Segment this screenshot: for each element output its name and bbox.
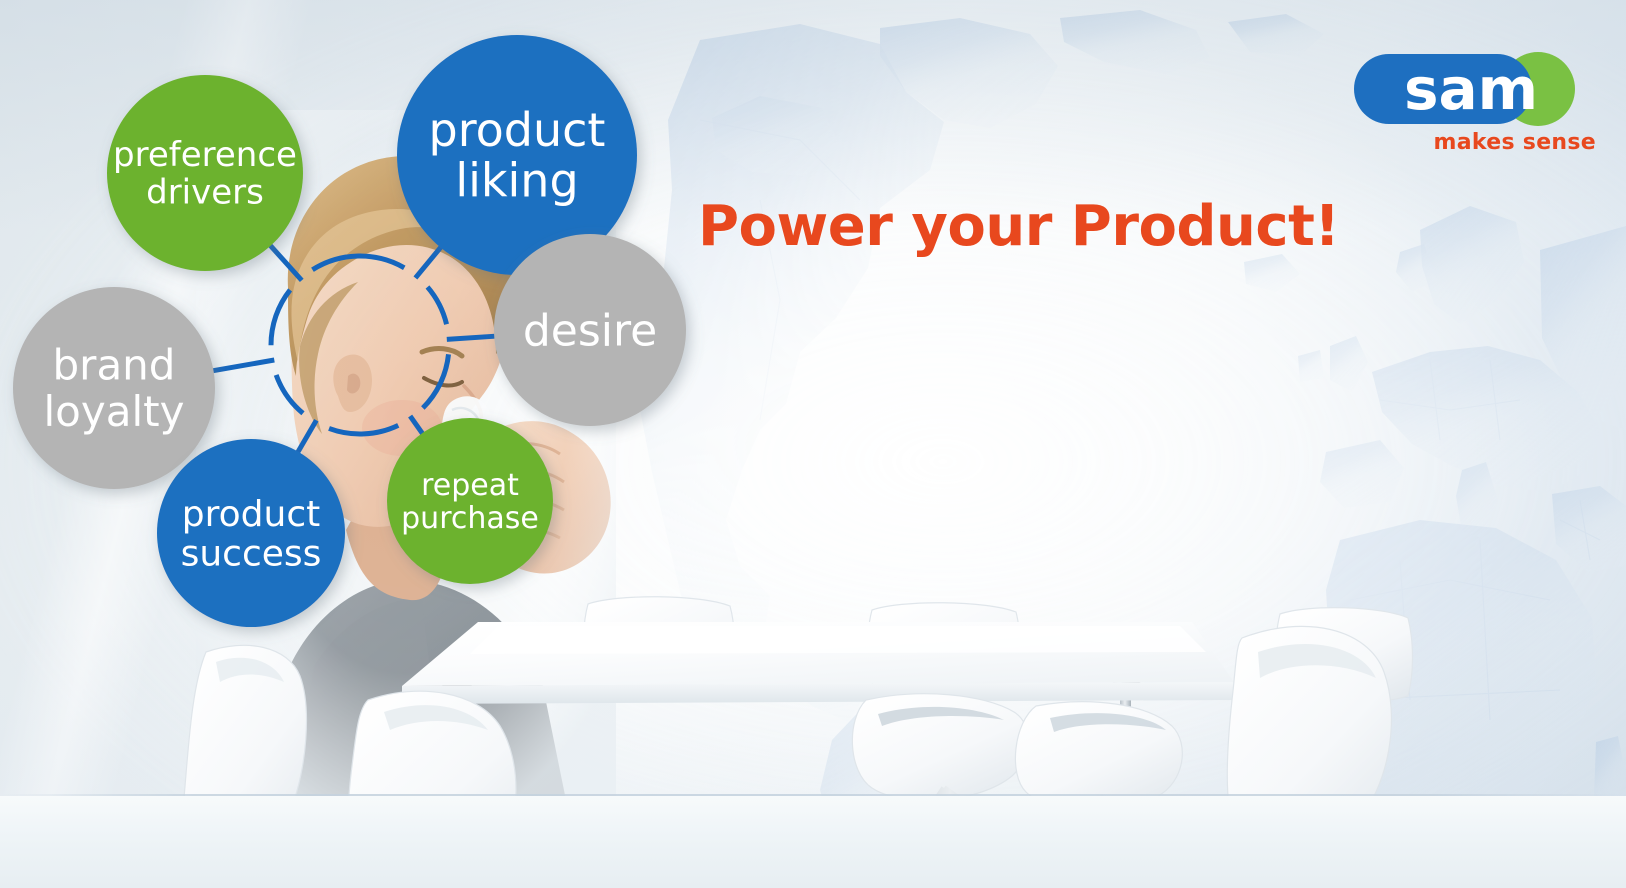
bubble-label-desire-line1: desire bbox=[523, 305, 657, 356]
bubble-label-preference-drivers-line2: drivers bbox=[146, 173, 264, 213]
spoke-desire bbox=[447, 336, 495, 339]
bubble-label-product-liking-line2: liking bbox=[455, 153, 578, 207]
preference-bubble-diagram: preferencedriversproductlikingdesirebran… bbox=[0, 0, 720, 680]
bubble-label-repeat-purchase-line2: purchase bbox=[401, 501, 539, 536]
bubble-brand-loyalty[interactable]: brandloyalty bbox=[13, 287, 215, 489]
diagram-bubbles: preferencedriversproductlikingdesirebran… bbox=[13, 35, 686, 627]
bubble-label-repeat-purchase-line1: repeat bbox=[421, 468, 519, 503]
bubble-desire[interactable]: desire bbox=[494, 234, 686, 426]
spoke-repeat-purchase bbox=[410, 416, 423, 434]
spoke-brand-loyalty bbox=[213, 360, 275, 371]
bubble-label-brand-loyalty-line2: loyalty bbox=[44, 387, 185, 436]
hub-ring-arc bbox=[423, 354, 449, 408]
bubble-repeat-purchase[interactable]: repeatpurchase bbox=[387, 418, 553, 584]
sam-logo-mark: sam bbox=[1352, 52, 1598, 126]
logo-wordmark-text: sam bbox=[1404, 55, 1538, 123]
bubble-preference-drivers[interactable]: preferencedrivers bbox=[107, 75, 303, 271]
hub-ring-arc bbox=[329, 425, 398, 434]
hub-ring-arc bbox=[271, 290, 290, 345]
hub-ring-arc bbox=[427, 287, 446, 324]
hub-ring-arc bbox=[312, 256, 404, 270]
bubble-label-preference-drivers-line1: preference bbox=[113, 135, 297, 175]
spoke-product-liking bbox=[415, 247, 441, 278]
logo-tagline: makes sense bbox=[1352, 130, 1598, 155]
spoke-product-success bbox=[298, 420, 317, 452]
brand-logo[interactable]: sam makes sense bbox=[1352, 52, 1598, 155]
bubble-product-success[interactable]: productsuccess bbox=[157, 439, 345, 627]
hub-ring-arc bbox=[276, 375, 303, 413]
bubble-label-product-liking-line1: product bbox=[429, 103, 606, 157]
poster-stage: preferencedriversproductlikingdesirebran… bbox=[0, 0, 1626, 888]
bubble-label-brand-loyalty-line1: brand bbox=[53, 341, 176, 390]
bubble-label-product-success-line1: product bbox=[182, 494, 320, 535]
spoke-preference-drivers bbox=[270, 245, 302, 280]
bubble-label-product-success-line2: success bbox=[181, 533, 322, 574]
diagram-hub bbox=[271, 256, 449, 434]
page-title: Power your Product! bbox=[698, 194, 1339, 259]
floor bbox=[0, 796, 1626, 888]
